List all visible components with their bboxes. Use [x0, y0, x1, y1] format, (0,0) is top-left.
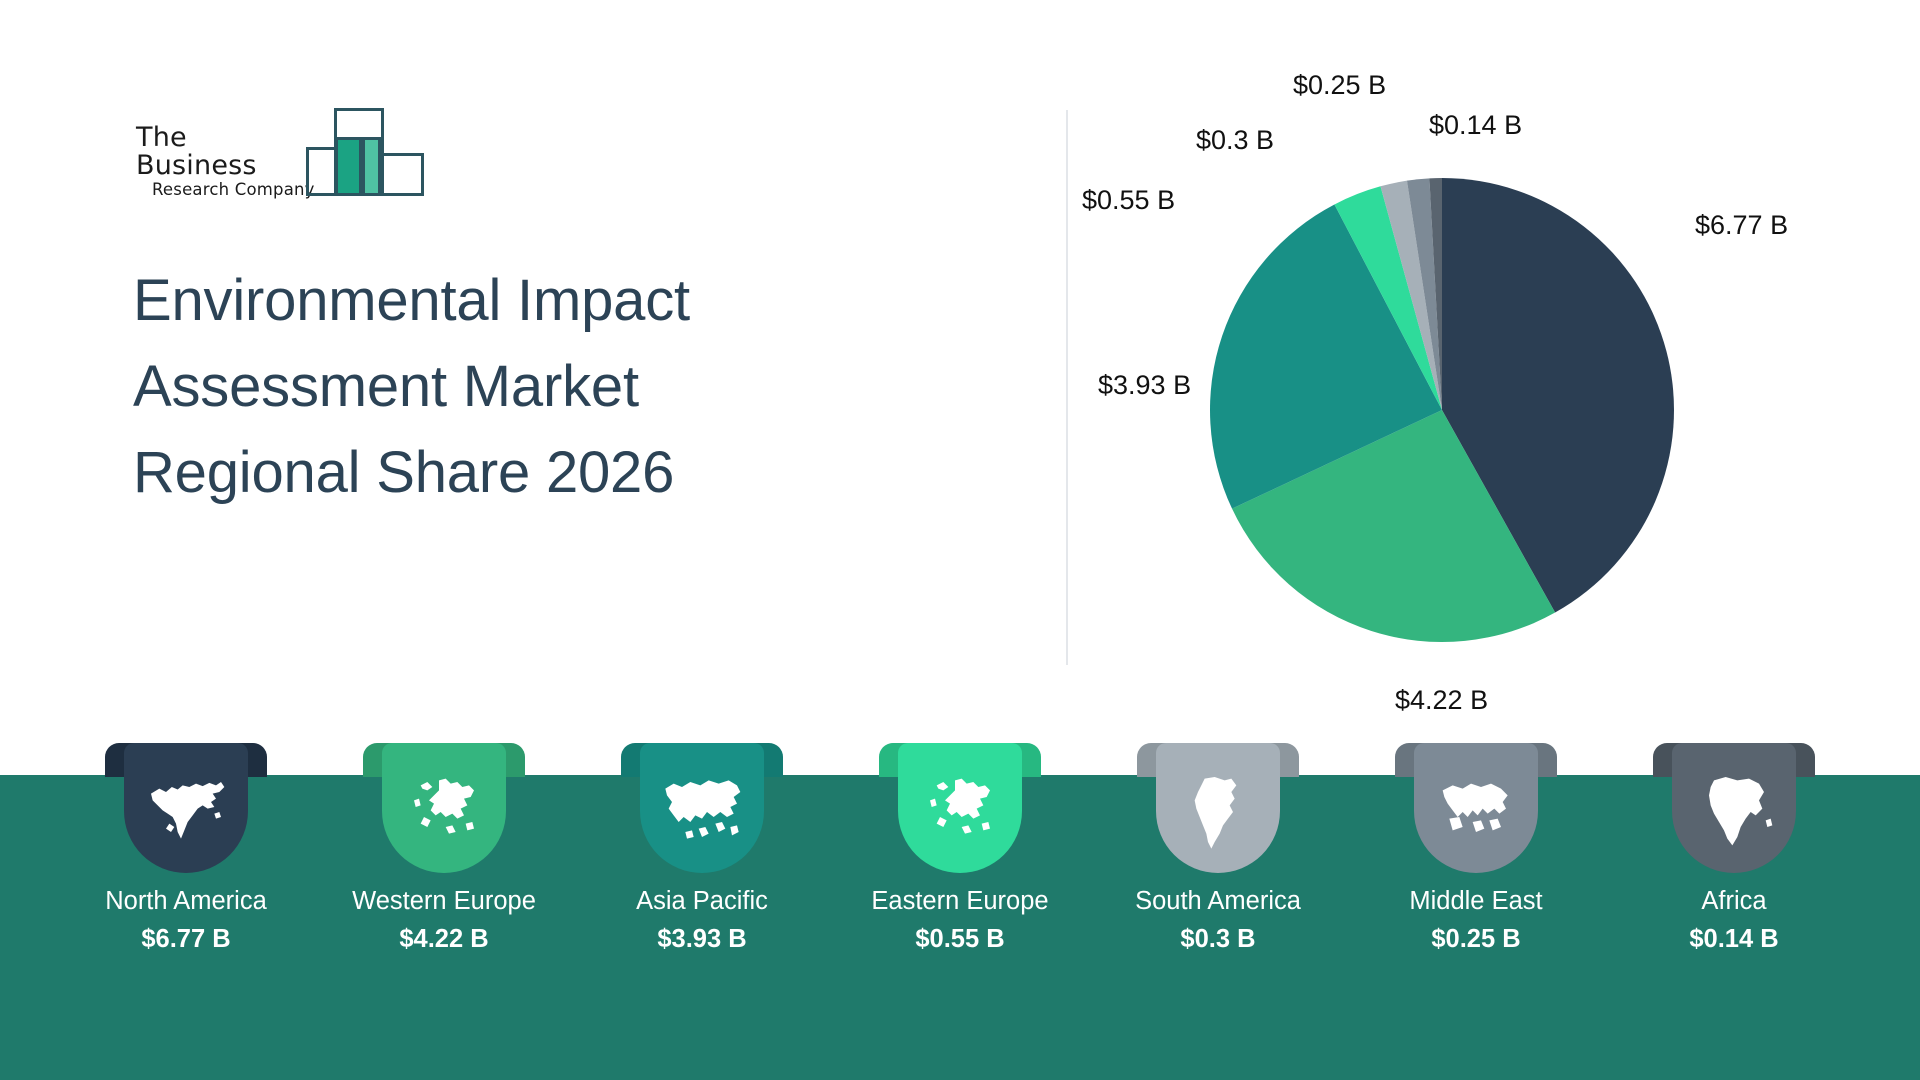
logo-wordmark: The Business Research Company: [136, 124, 316, 199]
region-badge[interactable]: Africa$0.14 B: [1605, 735, 1863, 954]
badge-region-value: $4.22 B: [399, 925, 488, 954]
logo-line-1: The Business: [136, 124, 316, 179]
badge-shape: [1653, 743, 1815, 873]
badge-region-value: $0.55 B: [915, 925, 1004, 954]
badge-shape: [363, 743, 525, 873]
badge-region-label: North America: [105, 887, 267, 916]
badge-shape: [105, 743, 267, 873]
page-title: Environmental Impact Assessment Market R…: [133, 258, 913, 515]
region-badge-row: North America$6.77 BWestern Europe$4.22 …: [0, 735, 1920, 1080]
region-badge[interactable]: North America$6.77 B: [57, 735, 315, 954]
badge-region-value: $6.77 B: [141, 925, 230, 954]
pie-label-africa: $0.14 B: [1429, 110, 1522, 141]
badge-region-label: Africa: [1701, 887, 1766, 916]
africa-map-icon: [1672, 757, 1796, 867]
region-badge[interactable]: Western Europe$4.22 B: [315, 735, 573, 954]
eastern-europe-map-icon: [898, 757, 1022, 867]
title-line-2: Assessment Market: [133, 344, 913, 430]
pie-svg: [1180, 40, 1880, 760]
badge-region-label: Asia Pacific: [636, 887, 768, 916]
western-europe-map-icon: [382, 757, 506, 867]
badge-region-label: South America: [1135, 887, 1301, 916]
badge-shape: [621, 743, 783, 873]
north-america-map-icon: [124, 757, 248, 867]
badge-region-value: $0.25 B: [1431, 925, 1520, 954]
badge-region-value: $0.3 B: [1180, 925, 1255, 954]
south-america-map-icon: [1156, 757, 1280, 867]
pie-label-asia-pacific: $3.93 B: [1098, 370, 1191, 401]
badge-shape: [879, 743, 1041, 873]
company-logo: The Business Research Company: [136, 108, 426, 196]
regional-share-pie-chart: $6.77 B$4.22 B$3.93 B$0.55 B$0.3 B$0.25 …: [1180, 40, 1880, 760]
region-badge[interactable]: Eastern Europe$0.55 B: [831, 735, 1089, 954]
badge-region-label: Western Europe: [352, 887, 536, 916]
asia-pacific-map-icon: [640, 757, 764, 867]
pie-label-middle-east: $0.25 B: [1293, 70, 1386, 101]
bar-chart-logo-icon: [306, 108, 424, 201]
region-badge[interactable]: South America$0.3 B: [1089, 735, 1347, 954]
title-line-3: Regional Share 2026: [133, 430, 913, 516]
pie-label-north-america: $6.77 B: [1695, 210, 1788, 241]
badge-shape: [1137, 743, 1299, 873]
badge-region-value: $3.93 B: [657, 925, 746, 954]
badge-region-label: Middle East: [1409, 887, 1542, 916]
pie-label-western-europe: $4.22 B: [1395, 685, 1488, 716]
pie-label-south-america: $0.3 B: [1196, 125, 1274, 156]
badge-shape: [1395, 743, 1557, 873]
middle-east-map-icon: [1414, 757, 1538, 867]
pie-label-eastern-europe: $0.55 B: [1082, 185, 1175, 216]
badge-region-value: $0.14 B: [1689, 925, 1778, 954]
region-badge[interactable]: Middle East$0.25 B: [1347, 735, 1605, 954]
region-badge[interactable]: Asia Pacific$3.93 B: [573, 735, 831, 954]
vertical-divider: [1066, 110, 1068, 665]
logo-line-2: Research Company: [152, 180, 316, 199]
badge-region-label: Eastern Europe: [871, 887, 1048, 916]
title-line-1: Environmental Impact: [133, 258, 913, 344]
